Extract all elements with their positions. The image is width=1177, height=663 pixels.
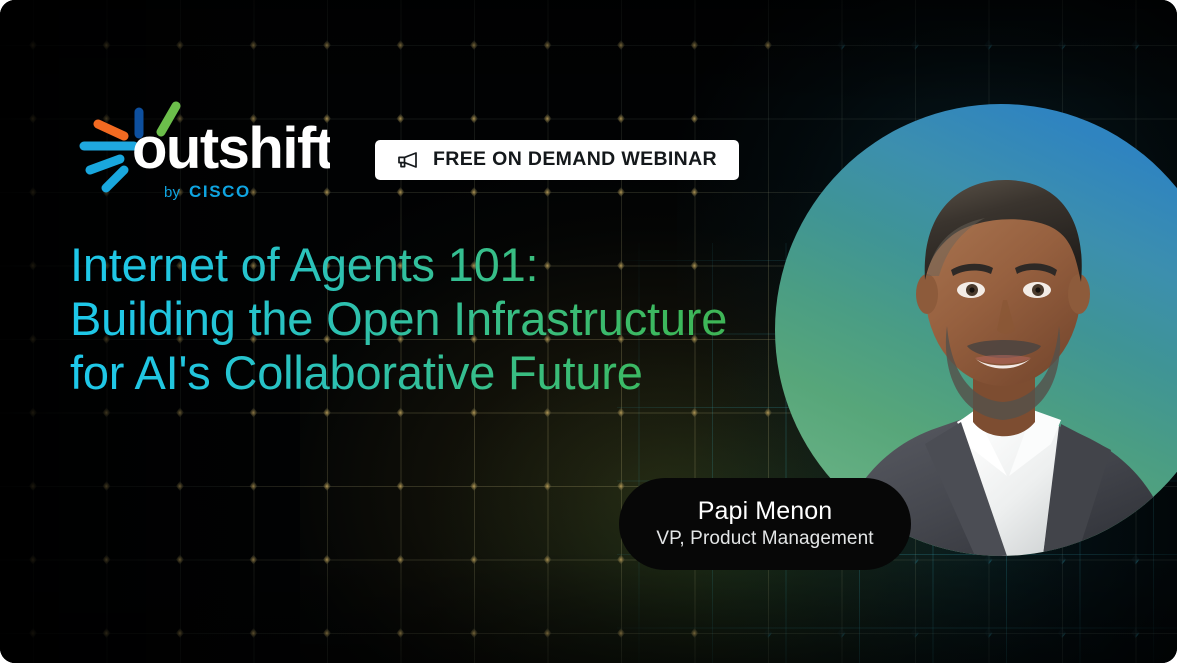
page-title: Internet of Agents 101: Building the Ope… xyxy=(70,238,790,400)
speaker-info-pill: Papi Menon VP, Product Management xyxy=(619,478,911,570)
speaker-name: Papi Menon xyxy=(698,497,832,526)
svg-text:outshift: outshift xyxy=(132,116,330,181)
badge-label: FREE ON DEMAND WEBINAR xyxy=(433,150,717,170)
megaphone-icon xyxy=(395,150,419,170)
headline-line-3: for AI's Collaborative Future xyxy=(70,346,790,400)
headline-line-1: Internet of Agents 101: xyxy=(70,238,790,292)
speaker-role: VP, Product Management xyxy=(656,528,873,551)
svg-text:by: by xyxy=(164,184,181,201)
svg-text:CISCO: CISCO xyxy=(189,182,251,201)
free-webinar-badge[interactable]: FREE ON DEMAND WEBINAR xyxy=(375,140,739,180)
headline-line-2: Building the Open Infrastructure xyxy=(70,292,790,346)
webinar-promo-banner: outshift by CISCO FREE ON DEMAND WEBINAR… xyxy=(0,0,1177,663)
outshift-logo[interactable]: outshift by CISCO xyxy=(76,96,330,204)
